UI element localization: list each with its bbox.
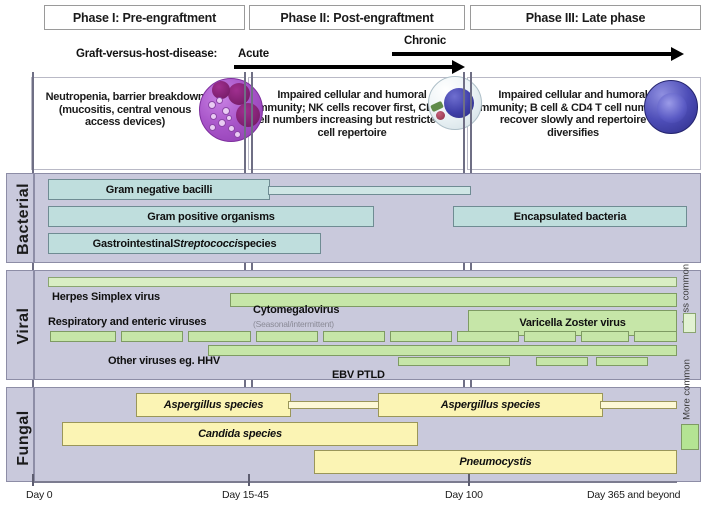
viral-dash-segment-9 bbox=[581, 331, 629, 342]
category-label-bacterial: Bacterial bbox=[15, 183, 33, 255]
bar-aspergillus-bridge bbox=[288, 401, 380, 409]
timeline-label-day-0: Day 0 bbox=[26, 489, 52, 501]
aspergillus-early-label: Aspergillus species bbox=[164, 399, 264, 411]
pneumocystis-label: Pneumocystis bbox=[459, 456, 531, 468]
category-label-viral: Viral bbox=[15, 296, 33, 356]
gvhd-prefix-label: Graft-versus-host-disease: bbox=[76, 48, 217, 60]
bar-gram-negative-bacilli-tail bbox=[268, 186, 471, 195]
bar-aspergillus-species-early: Aspergillus species bbox=[136, 393, 291, 417]
bar-ebv-ptld-band bbox=[208, 345, 677, 356]
viral-dash-segment-6 bbox=[390, 331, 452, 342]
label-ebv-ptld: EBV PTLD bbox=[332, 369, 385, 381]
gvhd-chronic-label: Chronic bbox=[404, 35, 446, 47]
category-label-fungal: Fungal bbox=[15, 403, 33, 473]
gvhd-chronic-arrow-head bbox=[671, 47, 684, 61]
label-cytomegalovirus-sub: (Seasonal/intermittent) bbox=[253, 319, 334, 329]
neutrophil-icon bbox=[199, 78, 263, 142]
timeline-tick-day-100 bbox=[468, 474, 470, 486]
timeline-label-day-100: Day 100 bbox=[445, 489, 483, 501]
viral-dash-segment-0 bbox=[50, 331, 116, 342]
gi-strep-italic: Streptococci bbox=[173, 238, 237, 250]
timeline-axis bbox=[32, 481, 677, 483]
viral-dash2-segment-1 bbox=[536, 357, 588, 366]
viral-dash-segment-8 bbox=[524, 331, 576, 342]
bar-viral-top-band bbox=[48, 277, 677, 287]
legend-label-more-common: More common bbox=[682, 351, 693, 429]
viral-dash-segment-7 bbox=[457, 331, 519, 342]
viral-dash-segment-2 bbox=[121, 331, 183, 342]
gvhd-chronic-arrow-line bbox=[392, 52, 673, 56]
granule-debris-icon bbox=[436, 111, 445, 120]
timeline-tick-day-0 bbox=[32, 474, 34, 486]
bar-aspergillus-species-late: Aspergillus species bbox=[378, 393, 603, 417]
timeline-label-day-365-beyond: Day 365 and beyond bbox=[587, 489, 680, 501]
bar-candida-species: Candida species bbox=[62, 422, 418, 446]
phase-header-3: Phase III: Late phase bbox=[470, 5, 701, 30]
aspergillus-late-label: Aspergillus species bbox=[441, 399, 541, 411]
viral-dash-segment-10 bbox=[634, 331, 677, 342]
bar-aspergillus-late-tail bbox=[600, 401, 677, 409]
viral-dash-segment-5 bbox=[323, 331, 385, 342]
label-respiratory-enteric-viruses: Respiratory and enteric viruses bbox=[48, 316, 206, 328]
bar-gram-negative-bacilli: Gram negative bacilli bbox=[48, 179, 270, 200]
phase-header-1: Phase I: Pre-engraftment bbox=[44, 5, 245, 30]
label-other-viruses-hhv: Other viruses eg. HHV bbox=[108, 355, 220, 367]
viral-dash-segment-3 bbox=[188, 331, 251, 342]
timeline-label-day-15-45: Day 15-45 bbox=[222, 489, 269, 501]
bar-gram-positive-organisms: Gram positive organisms bbox=[48, 206, 374, 227]
bar-encapsulated-bacteria: Encapsulated bacteria bbox=[453, 206, 687, 227]
desc-text-pre-engraftment: Neutropenia, barrier breakdown (mucositi… bbox=[40, 91, 210, 129]
legend-swatch-more-common bbox=[681, 424, 699, 450]
candida-label: Candida species bbox=[198, 428, 282, 440]
lymphocyte-icon bbox=[644, 80, 698, 134]
timeline-tick-day-15-45 bbox=[248, 474, 250, 486]
label-cytomegalovirus: Cytomegalovirus bbox=[253, 304, 339, 316]
bar-gastrointestinal-streptococci: Gastrointestinal Streptococci species bbox=[48, 233, 321, 254]
desc-text-late-phase: Impaired cellular and humoral immunity; … bbox=[474, 89, 672, 139]
label-herpes-simplex-virus: Herpes Simplex virus bbox=[52, 291, 160, 303]
gi-strep-suffix: species bbox=[237, 238, 276, 250]
viral-dash2-segment-2 bbox=[596, 357, 648, 366]
bar-pneumocystis: Pneumocystis bbox=[314, 450, 677, 474]
viral-dash-segment-4 bbox=[256, 331, 318, 342]
viral-dash2-segment-0 bbox=[398, 357, 510, 366]
legend-swatch-less-common bbox=[683, 313, 696, 333]
desc-text-post-engraftment: Impaired cellular and humoral immunity; … bbox=[252, 89, 452, 139]
nk-cell-icon bbox=[428, 76, 482, 130]
gi-strep-prefix: Gastrointestinal bbox=[93, 238, 174, 250]
gvhd-acute-label: Acute bbox=[238, 48, 269, 60]
gvhd-acute-arrow-line bbox=[234, 65, 454, 69]
phase-header-2: Phase II: Post-engraftment bbox=[249, 5, 465, 30]
